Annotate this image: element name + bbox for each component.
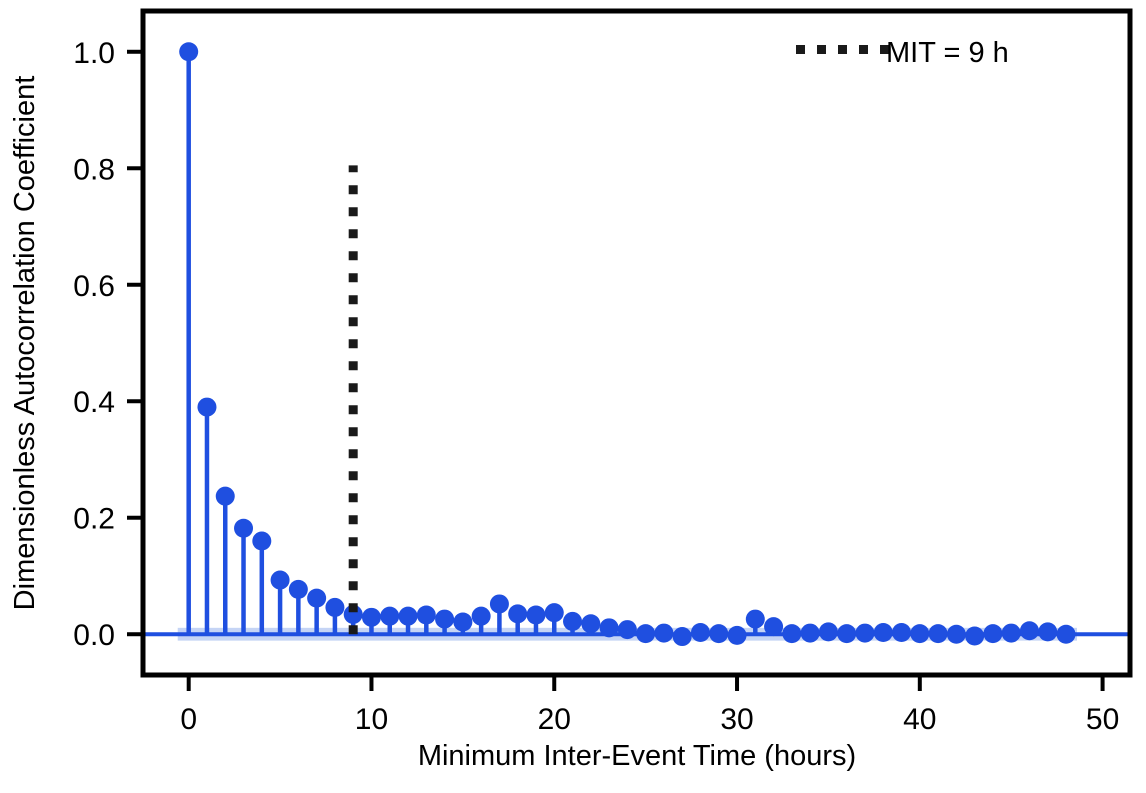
stem-marker [508,604,527,623]
legend-dot [817,45,826,54]
stem-marker [618,620,637,639]
plot-background [143,11,1130,675]
stem-marker [819,622,838,641]
stem-marker [691,623,710,642]
stem-marker [234,519,253,538]
y-tick-label: 0.2 [73,503,115,536]
x-tick-label: 40 [903,703,936,736]
stem-marker [654,624,673,643]
stem-marker [746,610,765,629]
x-tick-label: 50 [1086,703,1119,736]
stem-marker [874,623,893,642]
y-tick-label: 0.8 [73,153,115,186]
legend-dot [859,45,868,54]
x-tick-label: 0 [180,703,197,736]
y-tick-label: 0.6 [73,270,115,303]
stem-marker [1020,621,1039,640]
chart-figure: 01020304050 0.00.20.40.60.81.0 Minimum I… [0,0,1146,793]
stem-marker [1057,625,1076,644]
stem-marker [490,594,509,613]
stem-marker [526,606,545,625]
x-axis-title: Minimum Inter-Event Time (hours) [418,740,856,772]
stem-marker [728,626,747,645]
stem-marker [855,624,874,643]
stem-marker [289,580,308,599]
stem-marker [892,623,911,642]
stem-marker [325,598,344,617]
stem-marker [1002,624,1021,643]
autocorrelation-stem-plot: 01020304050 0.00.20.40.60.81.0 Minimum I… [0,0,1146,793]
y-tick-label: 0.4 [73,386,115,419]
stem-marker [782,624,801,643]
y-tick-label: 1.0 [73,37,115,70]
y-axis-tick-labels: 0.00.20.40.60.81.0 [73,37,115,652]
stem-marker [801,624,820,643]
y-tick-label: 0.0 [73,619,115,652]
x-tick-label: 30 [720,703,753,736]
stem-marker [1038,622,1057,641]
stem-marker [563,612,582,631]
x-tick-label: 10 [355,703,388,736]
stem-marker [197,398,216,417]
legend-dot [796,45,805,54]
stem-marker [965,626,984,645]
stem-marker [216,487,235,506]
stem-marker [947,625,966,644]
stem-marker [709,624,728,643]
stem-marker [307,589,326,608]
stem-marker [545,603,564,622]
stem-marker [179,42,198,61]
stem-marker [673,627,692,646]
stem-marker [983,624,1002,643]
stem-marker [600,618,619,637]
x-tick-label: 20 [538,703,571,736]
y-axis-title: Dimensionless Autocorrelation Coefficien… [9,76,41,611]
stem-marker [271,571,290,590]
stem-marker [435,610,454,629]
stem-marker [472,607,491,626]
stem-marker [380,607,399,626]
stem-marker [837,624,856,643]
legend-label: MIT = 9 h [886,37,1009,69]
legend-dot [838,45,847,54]
stem-marker [453,612,472,631]
stem-marker [910,624,929,643]
stem-marker [417,606,436,625]
stem-marker [252,532,271,551]
stem-marker [764,617,783,636]
stem-marker [362,608,381,627]
stem-marker [636,624,655,643]
stem-marker [929,624,948,643]
stem-marker [399,607,418,626]
stem-marker [581,614,600,633]
x-axis-tick-labels: 01020304050 [180,703,1119,736]
